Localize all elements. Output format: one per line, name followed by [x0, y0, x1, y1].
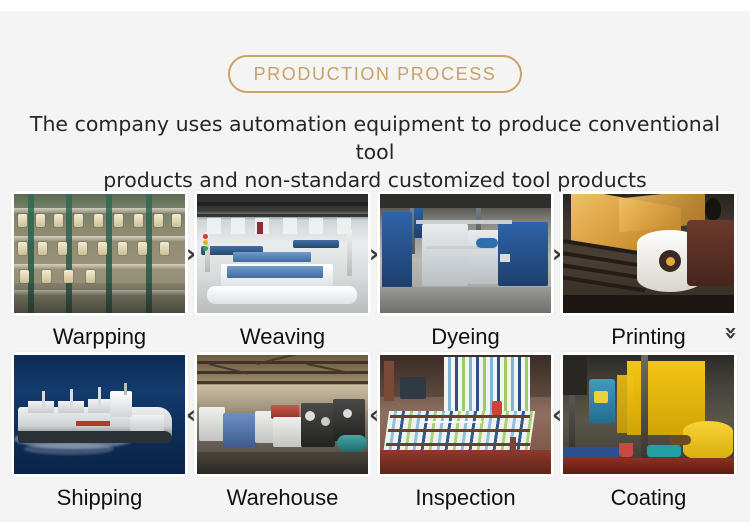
process-step-label: Dyeing [377, 324, 554, 350]
page-title-badge: PRODUCTION PROCESS [228, 55, 522, 93]
process-step-card [194, 191, 371, 316]
process-row-1: Warpping » [0, 191, 750, 351]
shipping-photo [14, 355, 185, 474]
process-step-coating[interactable]: Coating [560, 352, 737, 511]
subtitle-line-2: products and non-standard customized too… [25, 166, 725, 194]
process-step-dyeing[interactable]: Dyeing [377, 191, 554, 350]
process-step-label: Warpping [11, 324, 188, 350]
process-step-inspection[interactable]: Inspection [377, 352, 554, 511]
process-step-card [377, 352, 554, 477]
process-step-printing[interactable]: Printing [560, 191, 737, 350]
process-step-weaving[interactable]: Weaving [194, 191, 371, 350]
process-step-shipping[interactable]: Shipping [11, 352, 188, 511]
process-step-label: Warehouse [194, 485, 371, 511]
process-step-label: Weaving [194, 324, 371, 350]
dyeing-photo [380, 194, 551, 313]
process-step-warehouse[interactable]: Warehouse [194, 352, 371, 511]
coating-photo [563, 355, 734, 474]
warehouse-photo [197, 355, 368, 474]
weaving-photo [197, 194, 368, 313]
process-step-card [11, 352, 188, 477]
subtitle-line-1: The company uses automation equipment to… [25, 110, 725, 166]
process-step-label: Printing [560, 324, 737, 350]
process-row-2: Shipping « [0, 352, 750, 512]
process-step-label: Shipping [11, 485, 188, 511]
process-step-label: Coating [560, 485, 737, 511]
printing-photo [563, 194, 734, 313]
process-step-card [377, 191, 554, 316]
production-process-banner: PRODUCTION PROCESS The company uses auto… [0, 0, 750, 522]
inspection-photo [380, 355, 551, 474]
flow-separator-row-transition: » [720, 319, 740, 347]
page-title: PRODUCTION PROCESS [254, 64, 497, 85]
process-step-warpping[interactable]: Warpping [11, 191, 188, 350]
process-step-label: Inspection [377, 485, 554, 511]
banner-canvas: PRODUCTION PROCESS The company uses auto… [0, 11, 750, 522]
subtitle: The company uses automation equipment to… [25, 110, 725, 194]
process-step-card [11, 191, 188, 316]
process-step-card [560, 352, 737, 477]
process-step-card [194, 352, 371, 477]
warping-photo [14, 194, 185, 313]
process-step-card [560, 191, 737, 316]
